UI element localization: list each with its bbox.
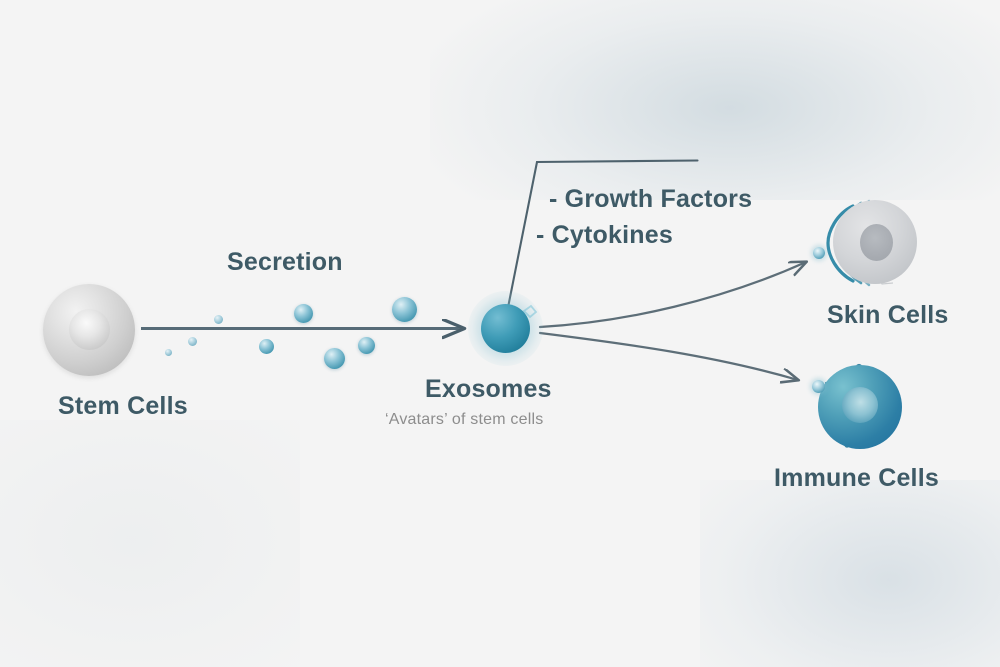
exosome-to-immune-arrow (540, 333, 798, 380)
diagram-canvas: Stem Cells Secretion Exosomes ‘Avatars’ … (0, 0, 1000, 667)
mini-exosome-immune (812, 380, 825, 393)
background-gradient-top (430, 0, 1000, 200)
background-gradient-left (0, 420, 300, 667)
exosome-body (481, 304, 530, 353)
skin-cells-label: Skin Cells (827, 301, 949, 330)
skin-cell-nucleus (860, 224, 893, 261)
secretion-label: Secretion (227, 248, 343, 277)
secreted-vesicle (294, 304, 313, 323)
callout-item-growth-factors: - Growth Factors (549, 185, 752, 214)
skin-cell[interactable] (833, 200, 917, 284)
secreted-vesicle (188, 337, 197, 346)
stem-cell[interactable] (43, 284, 135, 376)
exosome[interactable] (477, 300, 534, 357)
mini-exosome-skin (813, 247, 825, 259)
background-gradient-bottom (700, 480, 1000, 667)
secreted-vesicle (165, 349, 172, 356)
immune-cell-nucleus (842, 387, 878, 423)
immune-cells-label: Immune Cells (774, 464, 939, 493)
immune-cell[interactable] (818, 365, 902, 449)
secreted-vesicle (358, 337, 375, 354)
exosome-to-skin-arrow (540, 262, 806, 327)
secreted-vesicle (214, 315, 223, 324)
exosomes-subtitle-label: ‘Avatars’ of stem cells (385, 411, 543, 429)
secreted-vesicle (324, 348, 345, 369)
stem-cell-nucleus (69, 309, 110, 350)
exosomes-label: Exosomes (425, 375, 552, 404)
callout-item-cytokines: - Cytokines (536, 221, 673, 250)
secreted-vesicle (392, 297, 417, 322)
stem-cells-label: Stem Cells (58, 392, 188, 421)
secreted-vesicle (259, 339, 274, 354)
